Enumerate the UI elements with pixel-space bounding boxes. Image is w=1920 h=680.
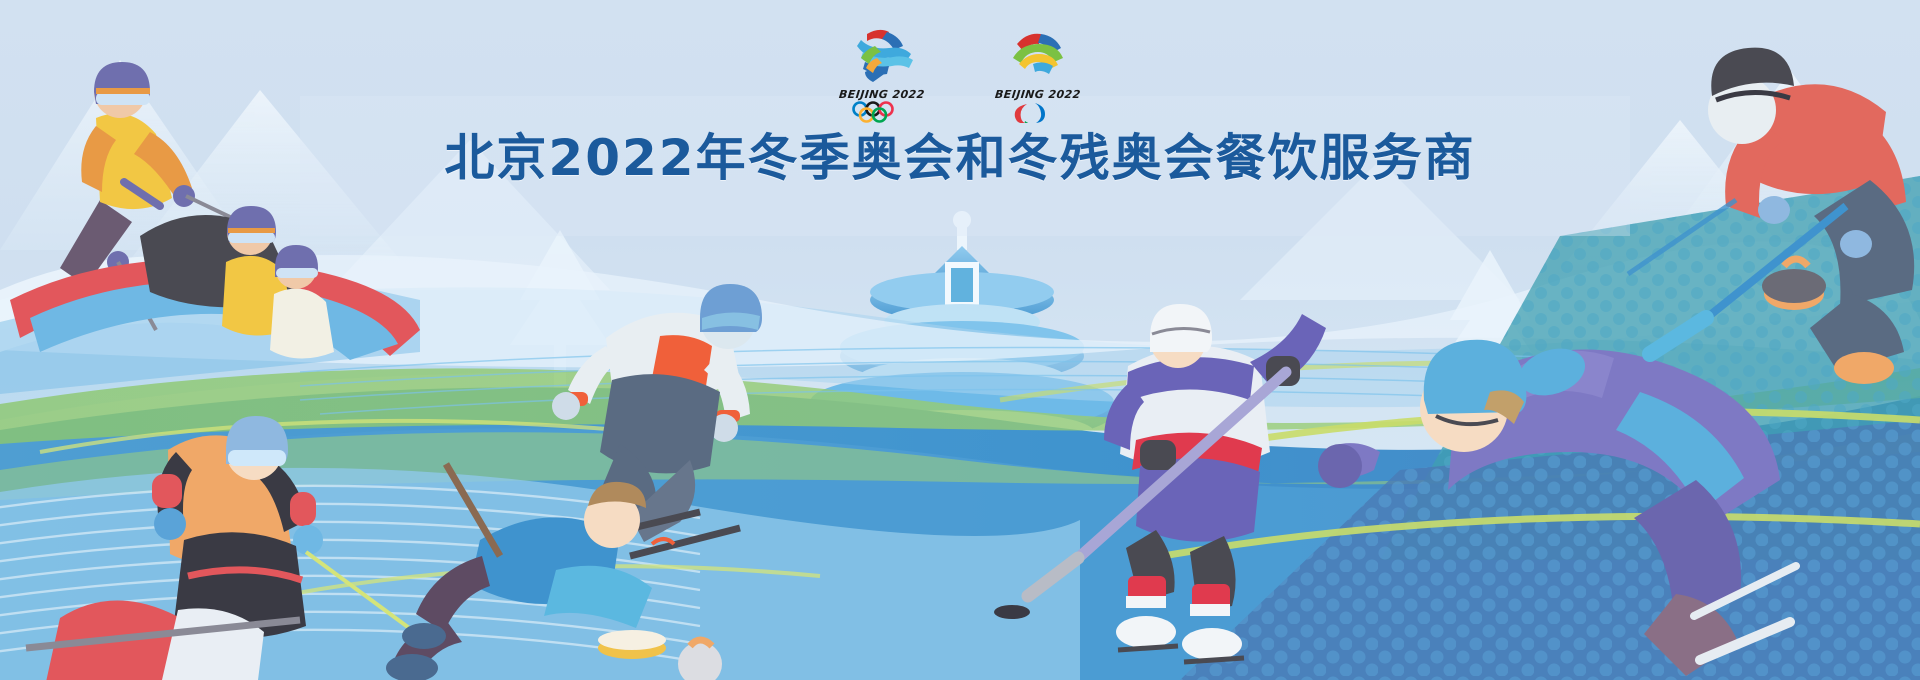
olympic-emblem-symbol: [847, 24, 917, 86]
olympic-emblem-wordmark: BEIJING 2022: [838, 88, 925, 101]
olympic-banner: BEIJING 2022 BEIJING 2022: [0, 0, 1920, 680]
paralympic-emblem-symbol: [1003, 24, 1073, 86]
paralympic-emblem-wordmark: BEIJING 2022: [994, 88, 1081, 101]
beijing-2022-paralympic-emblem: BEIJING 2022: [986, 24, 1090, 123]
banner-title: 北京2022年冬季奥会和冬残奥会餐饮服务商: [444, 118, 1475, 190]
beijing-2022-olympic-emblem: BEIJING 2022: [830, 24, 934, 123]
banner-title-wrap: 北京2022年冬季奥会和冬残奥会餐饮服务商: [0, 118, 1920, 190]
emblem-row: BEIJING 2022 BEIJING 2022: [0, 24, 1920, 123]
